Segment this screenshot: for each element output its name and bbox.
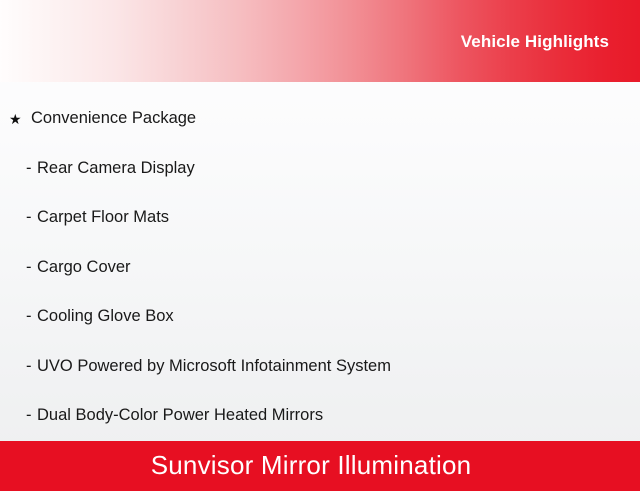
footer-banner: Sunvisor Mirror Illumination [0, 441, 640, 491]
list-item: - Cargo Cover [0, 243, 640, 293]
list-item-label: Cargo Cover [37, 258, 131, 277]
list-item: - Carpet Floor Mats [0, 193, 640, 243]
dash-bullet-icon: - [26, 208, 37, 227]
dash-bullet-icon: - [26, 258, 37, 277]
star-bullet-icon: ★ [9, 112, 31, 126]
highlights-list: ★ Convenience Package - Rear Camera Disp… [0, 94, 640, 441]
list-item-label: Dual Body-Color Power Heated Mirrors [37, 406, 323, 425]
list-item: - Rear Camera Display [0, 144, 640, 194]
list-item: ★ Convenience Package [0, 94, 640, 144]
vehicle-highlights-slide: Vehicle Highlights ★ Convenience Package… [0, 0, 640, 480]
page-title: Vehicle Highlights [461, 32, 640, 52]
footer-caption: Sunvisor Mirror Illumination [151, 450, 490, 481]
highlights-body: ★ Convenience Package - Rear Camera Disp… [0, 82, 640, 441]
list-item-label: UVO Powered by Microsoft Infotainment Sy… [37, 357, 391, 376]
dash-bullet-icon: - [26, 159, 37, 178]
dash-bullet-icon: - [26, 357, 37, 376]
list-item-label: Rear Camera Display [37, 159, 195, 178]
list-item-label: Cooling Glove Box [37, 307, 174, 326]
list-item: - UVO Powered by Microsoft Infotainment … [0, 342, 640, 392]
list-item-label: Carpet Floor Mats [37, 208, 169, 227]
header-banner: Vehicle Highlights [0, 0, 640, 82]
list-item-label: Convenience Package [31, 109, 196, 128]
dash-bullet-icon: - [26, 307, 37, 326]
dash-bullet-icon: - [26, 406, 37, 425]
list-item: - Cooling Glove Box [0, 292, 640, 342]
list-item: - Dual Body-Color Power Heated Mirrors [0, 391, 640, 441]
